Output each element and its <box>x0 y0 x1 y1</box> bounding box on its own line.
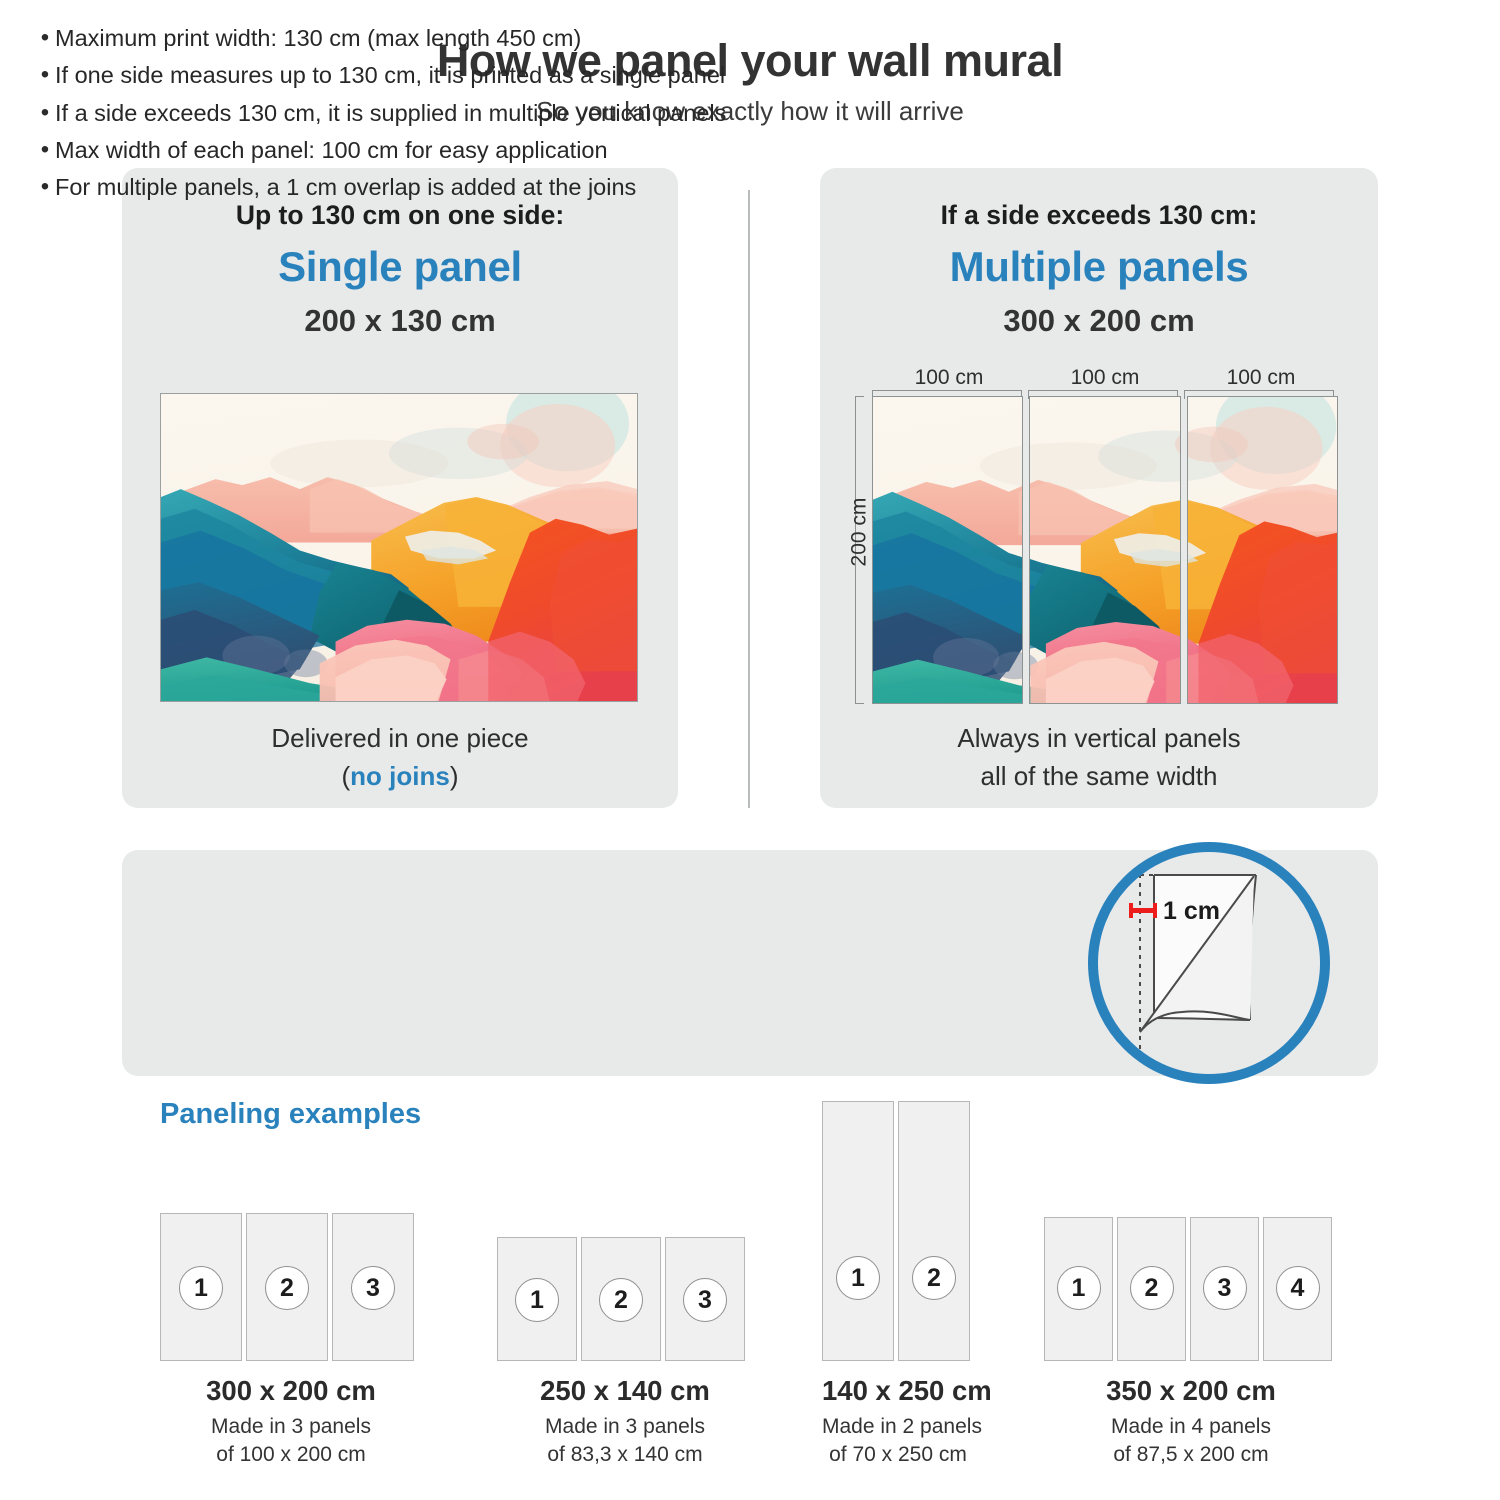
bullet-icon: • <box>35 173 55 201</box>
spec-item: • Max width of each panel: 100 cm for ea… <box>35 136 965 164</box>
spec-text: Maximum print width: 130 cm (max length … <box>55 24 581 52</box>
specifications-list: • Maximum print width: 130 cm (max lengt… <box>35 24 965 211</box>
example-2-made-line2: of 83,3 x 140 cm <box>497 1441 753 1469</box>
example-panel: 3 <box>1190 1217 1259 1361</box>
panel-number: 3 <box>683 1278 727 1322</box>
example-2-panels: 1 2 3 <box>497 1237 753 1361</box>
example-1-panels: 1 2 3 <box>160 1213 422 1361</box>
panel-width-label-1: 100 cm <box>872 366 1026 390</box>
panel-number: 2 <box>599 1278 643 1322</box>
example-panel: 4 <box>1263 1217 1332 1361</box>
example-2-size: 250 x 140 cm <box>497 1375 753 1407</box>
right-footer-line2: all of the same width <box>820 760 1378 794</box>
mural-panel-1 <box>872 396 1023 704</box>
overlap-circle-ring <box>1088 842 1330 1084</box>
panel-height-label: 200 cm <box>847 498 871 567</box>
mural-preview-single-panel <box>160 393 638 702</box>
panel-width-label-2: 100 cm <box>1028 366 1182 390</box>
example-3-size: 140 x 250 cm <box>822 1375 974 1407</box>
panel-number: 4 <box>1276 1266 1320 1310</box>
example-panel: 2 <box>898 1101 970 1361</box>
panel-number: 2 <box>265 1266 309 1310</box>
left-card-footer: Delivered in one piece (no joins) <box>122 722 678 794</box>
bullet-icon: • <box>35 99 55 127</box>
overlap-red-cap-left <box>1129 903 1133 918</box>
example-1-made-line2: of 100 x 200 cm <box>160 1441 422 1469</box>
spec-text: Max width of each panel: 100 cm for easy… <box>55 136 608 164</box>
panel-number: 1 <box>179 1266 223 1310</box>
example-panel: 1 <box>822 1101 894 1361</box>
panel-number: 1 <box>1057 1266 1101 1310</box>
bullet-icon: • <box>35 61 55 89</box>
left-card-size: 200 x 130 cm <box>122 303 678 339</box>
mural-panel-3 <box>1187 396 1338 704</box>
bullet-icon: • <box>35 136 55 164</box>
example-panel: 1 <box>1044 1217 1113 1361</box>
right-card-size: 300 x 200 cm <box>820 303 1378 339</box>
mural-panel-2 <box>1029 396 1180 704</box>
example-2-made-line1: Made in 3 panels <box>497 1413 753 1441</box>
example-1-size: 300 x 200 cm <box>160 1375 422 1407</box>
example-3-made-line1: Made in 2 panels <box>822 1413 974 1441</box>
example-panel: 1 <box>160 1213 242 1361</box>
panel-number: 3 <box>1203 1266 1247 1310</box>
panel-number: 2 <box>1130 1266 1174 1310</box>
spec-item: • For multiple panels, a 1 cm overlap is… <box>35 173 965 201</box>
example-4-panels: 1 2 3 4 <box>1044 1217 1338 1361</box>
paren-open: ( <box>341 761 350 791</box>
spec-text: If one side measures up to 130 cm, it is… <box>55 61 725 89</box>
left-footer-line1: Delivered in one piece <box>122 722 678 756</box>
overlap-label: 1 cm <box>1163 897 1220 926</box>
overlap-red-cap-right <box>1153 903 1157 918</box>
panel-number: 1 <box>836 1256 880 1300</box>
right-card-title: Multiple panels <box>820 243 1378 291</box>
bullet-icon: • <box>35 24 55 52</box>
panel-number: 1 <box>515 1278 559 1322</box>
no-joins-highlight: no joins <box>350 761 450 791</box>
example-panel: 1 <box>497 1237 577 1361</box>
example-panel: 2 <box>246 1213 328 1361</box>
example-panel: 2 <box>1117 1217 1186 1361</box>
right-card-footer: Always in vertical panels all of the sam… <box>820 722 1378 794</box>
paneling-example-4: 1 2 3 4 350 x 200 cm Made in 4 panels of… <box>1044 1217 1338 1468</box>
mural-preview-three-panels <box>872 396 1338 704</box>
left-footer-line2: (no joins) <box>122 760 678 794</box>
paneling-example-2: 1 2 3 250 x 140 cm Made in 3 panels of 8… <box>497 1237 753 1468</box>
panel-number: 2 <box>912 1256 956 1300</box>
example-4-made-line2: of 87,5 x 200 cm <box>1044 1441 1338 1469</box>
infographic-page: How we panel your wall mural So you know… <box>0 0 1500 1500</box>
paneling-examples-title: Paneling examples <box>160 1098 421 1131</box>
spec-text: If a side exceeds 130 cm, it is supplied… <box>55 99 726 127</box>
example-4-size: 350 x 200 cm <box>1044 1375 1338 1407</box>
example-3-made-line2: of 70 x 250 cm <box>822 1441 974 1469</box>
example-1-made-line1: Made in 3 panels <box>160 1413 422 1441</box>
vertical-divider <box>748 190 750 808</box>
paren-close: ) <box>450 761 459 791</box>
spec-item: • Maximum print width: 130 cm (max lengt… <box>35 24 965 52</box>
example-panel: 3 <box>332 1213 414 1361</box>
left-card-title: Single panel <box>122 243 678 291</box>
right-footer-line1: Always in vertical panels <box>820 722 1378 756</box>
spec-text: For multiple panels, a 1 cm overlap is a… <box>55 173 636 201</box>
example-4-made-line1: Made in 4 panels <box>1044 1413 1338 1441</box>
spec-item: • If a side exceeds 130 cm, it is suppli… <box>35 99 965 127</box>
spec-item: • If one side measures up to 130 cm, it … <box>35 61 965 89</box>
paneling-example-1: 1 2 3 300 x 200 cm Made in 3 panels of 1… <box>160 1213 422 1468</box>
example-3-panels: 1 2 <box>822 1101 974 1361</box>
panel-number: 3 <box>351 1266 395 1310</box>
paneling-example-3: 1 2 140 x 250 cm Made in 2 panels of 70 … <box>822 1101 974 1468</box>
example-panel: 3 <box>665 1237 745 1361</box>
panel-width-label-3: 100 cm <box>1184 366 1338 390</box>
example-panel: 2 <box>581 1237 661 1361</box>
